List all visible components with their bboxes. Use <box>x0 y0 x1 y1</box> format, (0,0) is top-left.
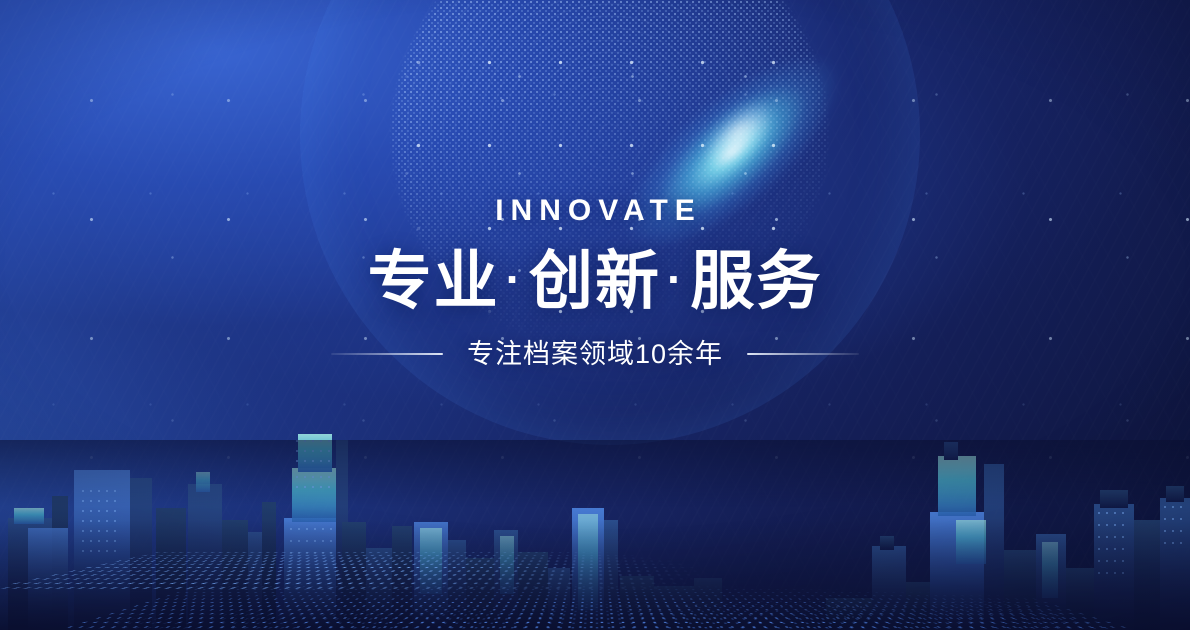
headline-word-1: 专业 <box>368 245 500 317</box>
headline-separator-2: · <box>661 253 690 305</box>
headline: 专业·创新·服务 <box>368 248 823 315</box>
eyebrow-text: INNOVATE <box>488 196 702 226</box>
headline-word-2: 创新 <box>529 245 661 317</box>
subtitle-row: 专注档案领域10余年 <box>331 341 859 368</box>
subtitle-text: 专注档案领域10余年 <box>467 341 723 368</box>
banner-content: INNOVATE 专业·创新·服务 专注档案领域10余年 <box>0 0 1190 630</box>
headline-separator-1: · <box>500 253 529 305</box>
headline-word-3: 服务 <box>690 245 822 317</box>
divider-line-right <box>747 353 859 355</box>
divider-line-left <box>331 353 443 355</box>
hero-banner: INNOVATE 专业·创新·服务 专注档案领域10余年 <box>0 0 1190 630</box>
